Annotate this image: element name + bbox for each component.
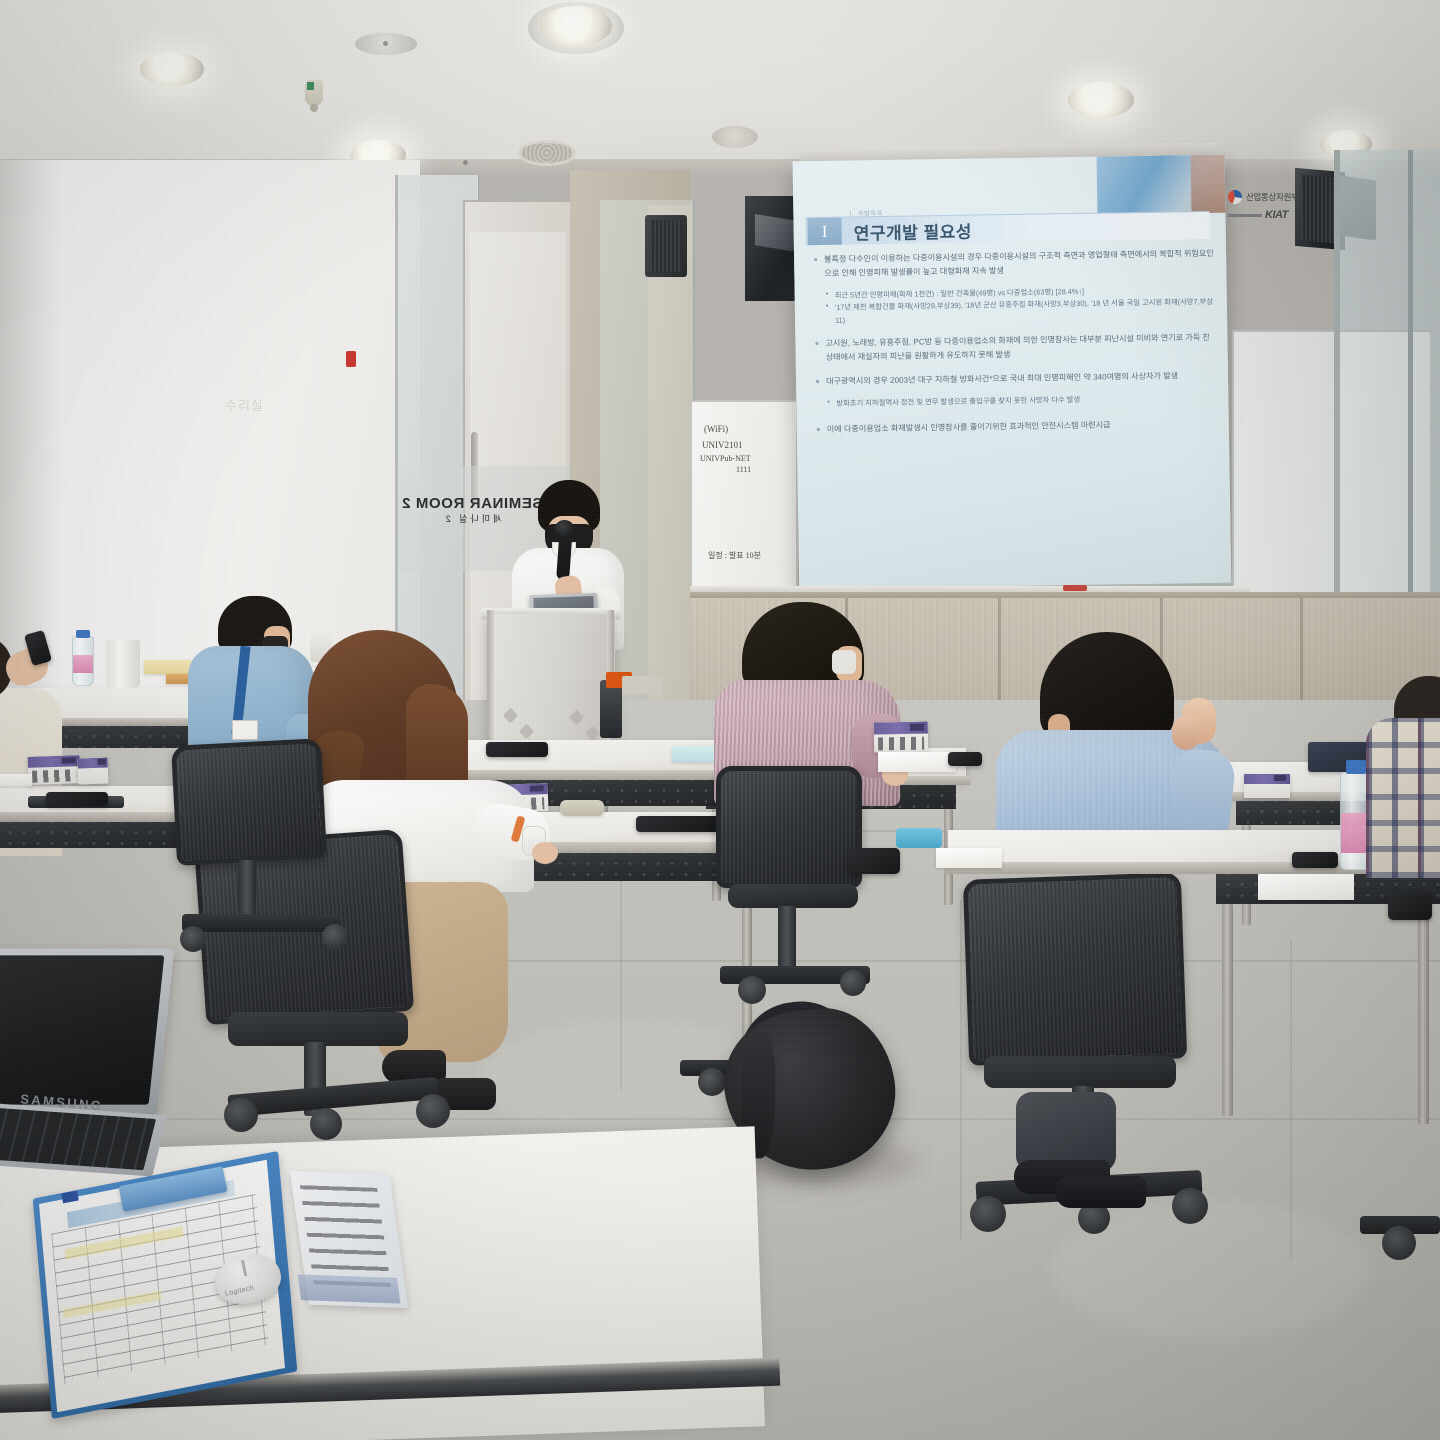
whiteboard-line: 일정 : 발표 10분	[708, 550, 761, 561]
ceiling-vent	[518, 140, 576, 166]
whiteboard-line: (WiFi)	[704, 424, 728, 434]
desk-leg	[1222, 904, 1233, 1116]
slide-bullet: 대구광역시의 경우 2003년 대구 지하철 방화사건*으로 국내 최대 인명피…	[814, 369, 1218, 389]
paper-sheet[interactable]	[936, 848, 1002, 868]
chair-base	[182, 914, 340, 932]
kiat-dash-icon	[1228, 214, 1262, 217]
name-placard	[874, 722, 929, 753]
slide-bullet: 방화초기 지하철역사 정전 및 연무 발생으로 출입구를 찾지 못한 사망자 다…	[814, 392, 1218, 411]
ministry-emblem-icon	[1228, 190, 1242, 204]
smartphone[interactable]	[848, 848, 900, 874]
whiteboard-line: 1111	[736, 465, 751, 474]
desk-caster	[698, 1068, 726, 1096]
attendee-hand	[532, 842, 558, 864]
chair-caster	[416, 1094, 450, 1128]
ceiling-downlight	[140, 52, 204, 86]
chair-caster	[180, 926, 206, 952]
chair-caster	[970, 1196, 1006, 1232]
name-placard	[28, 755, 81, 785]
slide-title: 연구개발 필요성	[854, 218, 973, 245]
floor-box	[622, 676, 662, 694]
smartphone[interactable]	[948, 752, 982, 766]
slide-bullet: 불특정 다수인이 이용하는 다중이용시설의 경우 다중이용시설의 구조적 측면과…	[812, 247, 1216, 281]
placard-header	[297, 1274, 400, 1303]
chair-caster	[738, 976, 766, 1004]
ceiling-downlight	[540, 6, 612, 46]
desk-leg	[1418, 904, 1429, 1124]
attendee-clasped-hands	[1172, 716, 1200, 750]
whiteboard: (WiFi) UNIV2101 UNIVPub-NET 1111 일정 : 발표…	[690, 400, 798, 596]
paper-sheet[interactable]	[878, 752, 956, 772]
sprinkler-head-icon	[305, 80, 323, 106]
whiteboard-line: UNIV2101	[702, 440, 743, 450]
ceiling-vent	[712, 126, 758, 148]
bottle-label	[73, 655, 93, 673]
smartphone[interactable]	[1388, 892, 1432, 920]
smartphone[interactable]	[46, 792, 108, 806]
projection-screen: I Ⅰ. 개발목표 연구개발 필요성 불특정 다수인이 이용하는 다중이용시설의…	[793, 155, 1232, 600]
placard-header	[874, 722, 928, 735]
whiteboard-line: UNIVPub-NET	[700, 454, 751, 463]
paper-sheet[interactable]	[1258, 874, 1354, 900]
slide-section-number: I	[807, 218, 841, 246]
seminar-room-photo: 수리실 SEMINAR ROOM 2 세미나실 2 (WiFi) UNIV210…	[0, 0, 1440, 1440]
bottle-cap	[76, 630, 90, 638]
pouch[interactable]	[560, 800, 604, 816]
smartphone[interactable]	[1292, 852, 1338, 868]
ceiling-speaker-icon	[352, 30, 420, 58]
wall-column	[648, 205, 692, 730]
name-placard	[78, 757, 109, 784]
placard-name-text	[878, 737, 924, 750]
slide-eyebrow-text: Ⅰ. 개발목표	[849, 208, 883, 218]
placard-header	[78, 757, 108, 768]
chair-seat	[984, 1056, 1176, 1088]
foreground-laptop-screen	[0, 955, 164, 1104]
slide-content: I Ⅰ. 개발목표 연구개발 필요성 불특정 다수인이 이용하는 다중이용시설의…	[793, 155, 1232, 600]
attendee-shoe	[1056, 1176, 1146, 1208]
chair-backrest	[963, 872, 1187, 1065]
ceiling-sensor-icon	[463, 160, 468, 165]
tumbler[interactable]	[896, 828, 942, 848]
chair-seat	[228, 1012, 408, 1046]
chair-caster	[322, 924, 348, 950]
slide-body: 불특정 다수인이 이용하는 다중이용시설의 경우 다중이용시설의 구조적 측면과…	[812, 247, 1219, 446]
red-marker-icon	[1063, 585, 1087, 591]
kiat-logo-label: KIAT	[1265, 209, 1288, 221]
chair-seat	[728, 884, 858, 908]
slide-bullet: 고시원, 노래방, 유흥주점, PC방 등 다중이용업소의 화재에 의한 인명참…	[813, 331, 1217, 365]
floor-tile-line	[960, 900, 962, 1240]
podium-decal-icon	[569, 710, 585, 726]
whiteboard-right	[1232, 330, 1432, 605]
paper-sheet[interactable]	[0, 774, 32, 786]
name-placard	[1244, 774, 1290, 798]
ministry-logo-label: 산업통상자원부	[1246, 191, 1299, 203]
projected-slide: I Ⅰ. 개발목표 연구개발 필요성 불특정 다수인이 이용하는 다중이용시설의…	[793, 155, 1232, 600]
fire-alarm-strip-icon	[346, 351, 356, 367]
id-badge	[232, 720, 258, 740]
chair-caster	[310, 1108, 342, 1140]
placard-header	[1244, 774, 1290, 784]
av-box	[600, 680, 622, 738]
desk-caster	[1382, 1226, 1416, 1260]
bottle-cap	[1346, 760, 1366, 774]
chair-caster	[224, 1098, 258, 1132]
ceiling	[0, 0, 1440, 175]
attendee-right-plaid	[1366, 700, 1440, 880]
chair-backrest	[171, 738, 327, 866]
chair-caster	[840, 970, 866, 996]
slide-bullet: 이에 다중이용업소 화재발생시 인명참사를 줄이기위한 효과적인 안전시스템 마…	[815, 416, 1219, 436]
wall-faint-text: 수리실	[225, 395, 285, 425]
ceiling-downlight	[1068, 82, 1134, 118]
paper-cup-stack[interactable]	[106, 640, 140, 688]
attendee-face-mask-strap	[832, 650, 856, 674]
slide-header-image	[1097, 155, 1226, 215]
placard-name-text	[32, 769, 76, 782]
podium-decal-icon	[585, 726, 601, 742]
wall-speaker-icon	[645, 215, 687, 277]
attendee-plaid-shirt	[1366, 718, 1440, 878]
placard-header	[28, 755, 80, 768]
chair-caster	[1172, 1188, 1208, 1224]
smartphone[interactable]	[636, 816, 720, 832]
microphone-head-icon	[555, 520, 574, 536]
slide-bullet: '17년 제천 복합건물 화재(사망29,부상39), '18년 군산 유흥주점…	[813, 296, 1217, 327]
chair-backrest	[716, 766, 862, 888]
